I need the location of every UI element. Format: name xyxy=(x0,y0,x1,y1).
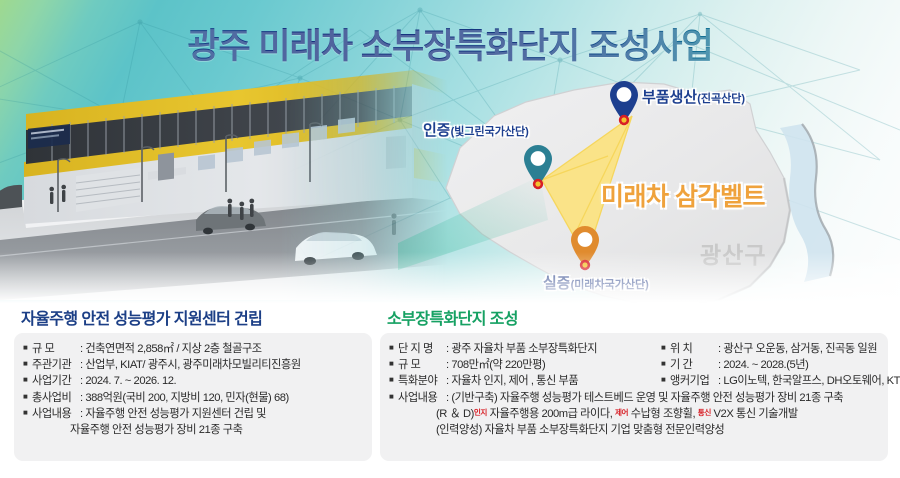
list-item: 규 모: 건축연면적 2,858㎡ / 지상 2층 철골구조 xyxy=(23,341,363,357)
list-item: 기 간: 2024. ~ 2028.(5년) xyxy=(661,357,900,373)
row-label: 사업기간 xyxy=(32,373,80,389)
list-item: 총사업비: 388억원(국비 200, 지방비 120, 민자(현물) 68) xyxy=(23,390,363,406)
list-item: 앵커기업: LG이노텍, 한국알프스, DH오토웨어, KT xyxy=(661,373,900,389)
panel-right-heading: 소부장특화단지 조성 xyxy=(380,305,888,329)
rnd-lead: (R ＆ D) xyxy=(436,408,474,420)
rnd-mid3: V2X 통신 기술개발 xyxy=(711,408,798,420)
row-value: : 광주 자율차 부품 소부장특화단지 xyxy=(446,343,597,355)
row-label: 규 모 xyxy=(32,341,80,357)
row-label: 특화분야 xyxy=(398,373,446,389)
sup-recognition: 인지 xyxy=(474,408,487,417)
list-item: 사업내용: (기반구축) 자율주행 성능평가 테스트베드 운영 및 자율주행 안… xyxy=(389,390,879,406)
belt-label: 미래차 삼각벨트 xyxy=(601,177,765,213)
list-item: 단 지 명: 광주 자율차 부품 소부장특화단지 xyxy=(389,341,661,357)
row-value: : LG이노텍, 한국알프스, DH오토웨어, KT xyxy=(718,375,900,387)
bullet-icon xyxy=(23,357,32,372)
rnd-mid1: 자율주행용 200m급 라이다, xyxy=(487,408,615,420)
map-pin-certification[interactable] xyxy=(523,144,553,190)
page-title: 광주 미래차 소부장특화단지 조성사업 xyxy=(0,18,900,69)
row-value: : 산업부, KIAT/ 광주시, 광주미래차모빌리티진흥원 xyxy=(80,359,301,371)
row-label: 위 치 xyxy=(670,341,718,357)
row-label: 단 지 명 xyxy=(398,341,446,357)
map-label-certification: 인증(빛그린국가산단) xyxy=(423,119,529,140)
map-pin-parts-production[interactable] xyxy=(609,80,639,126)
row-value: : 건축연면적 2,858㎡ / 지상 2층 철골구조 xyxy=(80,343,262,355)
bullet-icon xyxy=(661,341,670,356)
row-value: : 388억원(국비 200, 지방비 120, 민자(현물) 68) xyxy=(80,392,289,404)
bullet-icon xyxy=(661,373,670,388)
list-item: 규 모: 708만㎡(약 220만평) xyxy=(389,357,661,373)
bullet-icon xyxy=(389,373,398,388)
bullet-icon xyxy=(23,406,32,421)
bullet-icon xyxy=(389,357,398,372)
panel-right-body: 단 지 명: 광주 자율차 부품 소부장특화단지 규 모: 708만㎡(약 22… xyxy=(380,333,888,461)
row-value: : 2024. 7. ~ 2026. 12. xyxy=(80,375,176,387)
panel-support-center: 자율주행 안전 성능평가 지원센터 건립 규 모: 건축연면적 2,858㎡ /… xyxy=(14,305,372,461)
list-item: 주관기관: 산업부, KIAT/ 광주시, 광주미래차모빌리티진흥원 xyxy=(23,357,363,373)
bullet-icon xyxy=(23,341,32,356)
map-label-parts-production: 부품생산(진곡산단) xyxy=(642,86,745,107)
infographic-page: 부품생산(진곡산단) 인증(빛그린국가산단) xyxy=(0,0,900,478)
panel-right-col-b: 위 치: 광산구 오운동, 삼거동, 진곡동 일원 기 간: 2024. ~ 2… xyxy=(661,341,900,390)
sup-communication: 통신 xyxy=(698,408,711,417)
panel-left-heading: 자율주행 안전 성능평가 지원센터 건립 xyxy=(14,305,372,329)
list-item: 위 치: 광산구 오운동, 삼거동, 진곡동 일원 xyxy=(661,341,900,357)
row-value: : (기반구축) 자율주행 성능평가 테스트베드 운영 및 자율주행 안전 성능… xyxy=(446,392,843,404)
row-label: 앵커기업 xyxy=(670,373,718,389)
panel-right-col-a: 단 지 명: 광주 자율차 부품 소부장특화단지 규 모: 708만㎡(약 22… xyxy=(389,341,661,390)
row-label: 사업내용 xyxy=(32,406,80,422)
row-value: : 2024. ~ 2028.(5년) xyxy=(718,359,808,371)
row-label: 기 간 xyxy=(670,357,718,373)
bullet-icon xyxy=(23,373,32,388)
list-item-continuation: 자율주행 안전 성능평가 장비 21종 구축 xyxy=(23,422,363,438)
hero-bottom-fade xyxy=(0,252,900,312)
row-value: : 자율차 인지, 제어 , 통신 부품 xyxy=(446,375,578,387)
info-panels: 자율주행 안전 성능평가 지원센터 건립 규 모: 건축연면적 2,858㎡ /… xyxy=(0,305,900,478)
row-value: 자율주행 안전 성능평가 장비 21종 구축 xyxy=(70,422,363,438)
bullet-icon xyxy=(23,390,32,405)
row-label: 주관기관 xyxy=(32,357,80,373)
bullet-icon xyxy=(389,390,398,405)
row-value: : 자율주행 안전 성능평가 지원센터 건립 및 xyxy=(80,408,266,420)
list-item-continuation: (R ＆ D)인지 자율주행용 200m급 라이다, 제어 수납형 조향휠, 통… xyxy=(389,406,879,422)
list-item: 사업기간: 2024. 7. ~ 2026. 12. xyxy=(23,373,363,389)
bullet-icon xyxy=(389,341,398,356)
sup-control: 제어 xyxy=(615,408,628,417)
row-label: 총사업비 xyxy=(32,390,80,406)
bullet-icon xyxy=(661,357,670,372)
row-value: (인력양성) 자율차 부품 소부장특화단지 기업 맞춤형 전문인력양성 xyxy=(436,422,879,438)
row-label: 규 모 xyxy=(398,357,446,373)
rnd-mid2: 수납형 조향휠, xyxy=(628,408,698,420)
list-item-continuation: (인력양성) 자율차 부품 소부장특화단지 기업 맞춤형 전문인력양성 xyxy=(389,422,879,438)
panel-right-columns: 단 지 명: 광주 자율차 부품 소부장특화단지 규 모: 708만㎡(약 22… xyxy=(389,341,879,390)
row-value: : 708만㎡(약 220만평) xyxy=(446,359,545,371)
hero-background: 부품생산(진곡산단) 인증(빛그린국가산단) xyxy=(0,0,900,312)
panel-specialized-complex: 소부장특화단지 조성 단 지 명: 광주 자율차 부품 소부장특화단지 규 모:… xyxy=(380,305,888,461)
row-label: 사업내용 xyxy=(398,390,446,406)
list-item: 특화분야: 자율차 인지, 제어 , 통신 부품 xyxy=(389,373,661,389)
list-item: 사업내용: 자율주행 안전 성능평가 지원센터 건립 및 xyxy=(23,406,363,422)
panel-left-body: 규 모: 건축연면적 2,858㎡ / 지상 2층 철골구조 주관기관: 산업부… xyxy=(14,333,372,461)
row-value: : 광산구 오운동, 삼거동, 진곡동 일원 xyxy=(718,343,877,355)
